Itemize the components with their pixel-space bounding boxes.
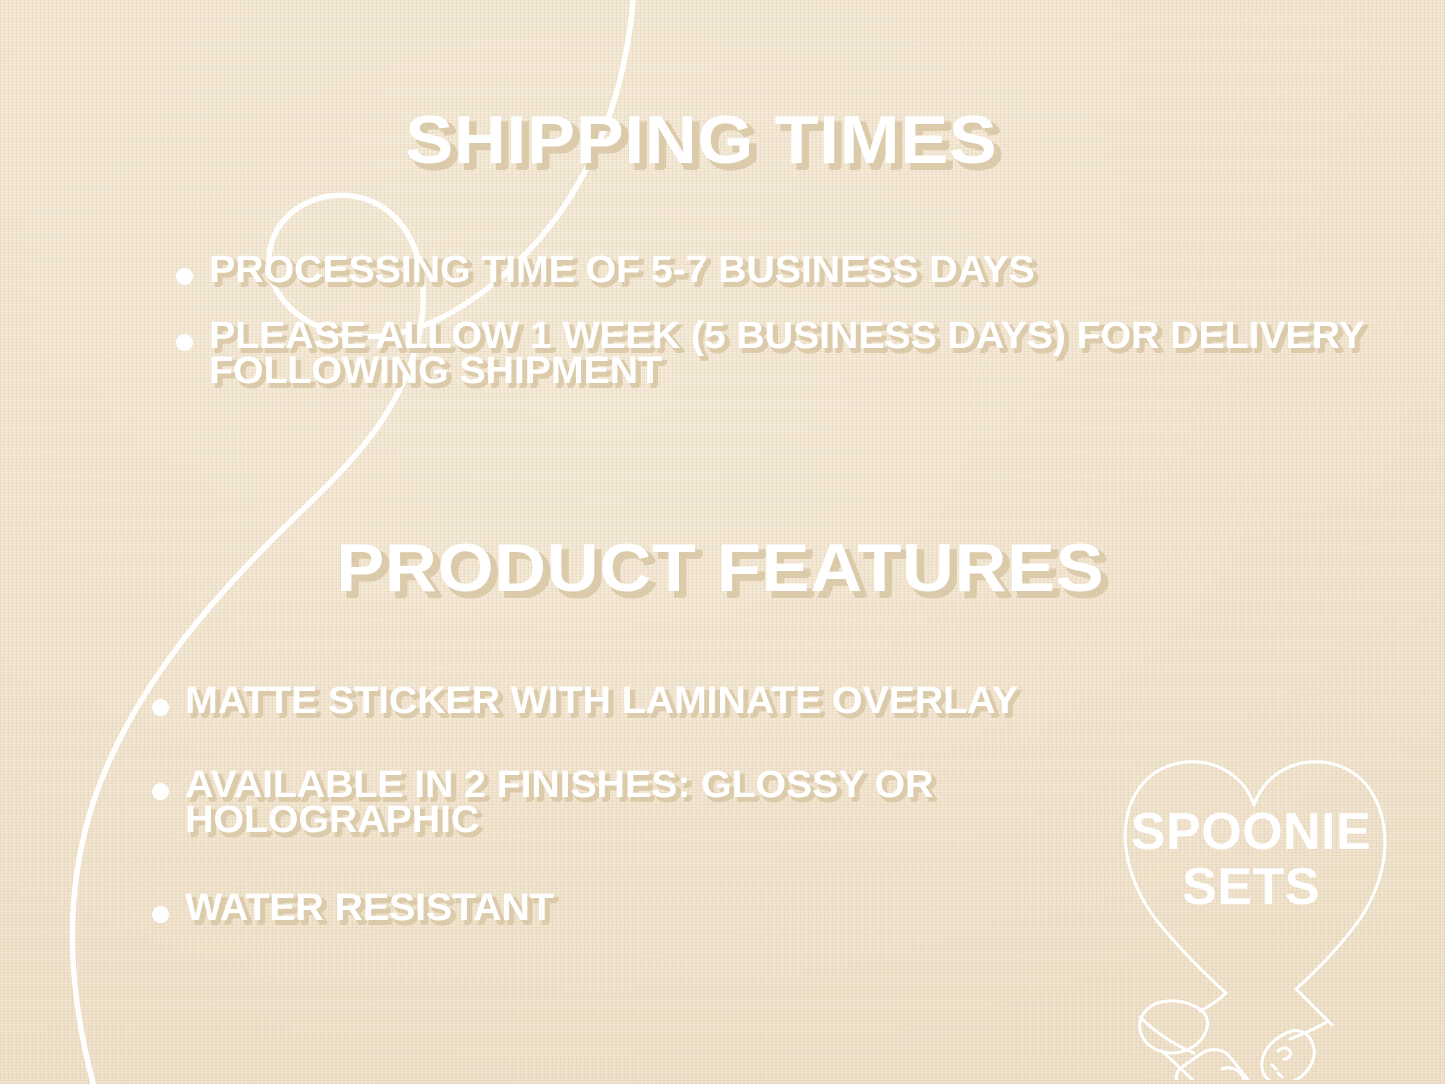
list-item-label: WATER RESISTANT (185, 891, 554, 927)
bullet-list-shipping-times: PROCESSING TIME OF 5-7 BUSINESS DAYS PLE… (176, 253, 1366, 414)
bullet-dot-icon (176, 334, 193, 351)
bullet-dot-icon (152, 906, 169, 923)
list-item-label: PLEASE ALLOW 1 WEEK (5 BUSINESS DAYS) FO… (209, 319, 1374, 390)
bullet-dot-icon (176, 268, 193, 285)
list-item: PROCESSING TIME OF 5-7 BUSINESS DAYS (176, 253, 1366, 289)
stethoscope-heart-icon (1096, 735, 1445, 1080)
section-title-shipping-times: SHIPPING TIMES (405, 101, 997, 179)
poster-canvas: SHIPPING TIMES PROCESSING TIME OF 5-7 BU… (0, 0, 1445, 1084)
spoonie-sets-logo: SPOONIE SETS (1096, 735, 1445, 1080)
list-item-label: AVAILABLE IN 2 FINISHES: GLOSSY OR HOLOG… (185, 768, 1163, 839)
section-title-product-features: PRODUCT FEATURES (336, 529, 1104, 607)
bullet-dot-icon (152, 783, 169, 800)
list-item: WATER RESISTANT (152, 891, 1222, 927)
list-item: PLEASE ALLOW 1 WEEK (5 BUSINESS DAYS) FO… (176, 319, 1366, 390)
list-item: AVAILABLE IN 2 FINISHES: GLOSSY OR HOLOG… (152, 768, 1222, 839)
list-item-label: PROCESSING TIME OF 5-7 BUSINESS DAYS (209, 253, 1035, 289)
bullet-dot-icon (152, 699, 169, 716)
list-item: MATTE STICKER WITH LAMINATE OVERLAY (152, 684, 1222, 720)
list-item-label: MATTE STICKER WITH LAMINATE OVERLAY (185, 684, 1018, 720)
bullet-list-product-features: MATTE STICKER WITH LAMINATE OVERLAY AVAI… (152, 684, 1222, 951)
